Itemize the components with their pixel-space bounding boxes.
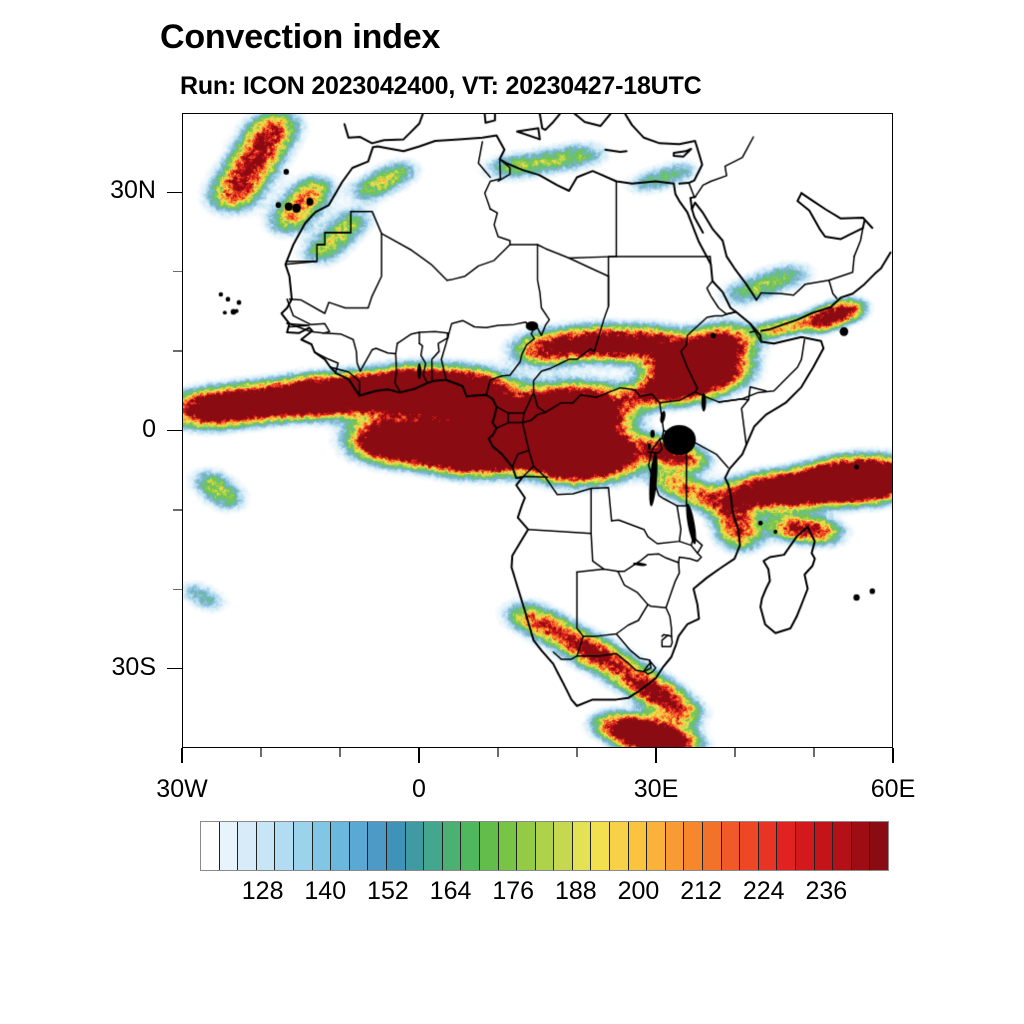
x-axis-label: 30E xyxy=(634,775,678,804)
colorbar-swatch xyxy=(573,822,592,870)
colorbar-tick-label: 140 xyxy=(304,877,346,906)
colorbar-swatch xyxy=(499,822,518,870)
colorbar-labels: 128140152164176188200212224236 xyxy=(0,877,1024,913)
y-axis-label: 30S xyxy=(0,653,156,682)
colorbar-tick-label: 224 xyxy=(743,877,785,906)
x-tick-major xyxy=(892,748,894,763)
colorbar-swatch xyxy=(350,822,369,870)
colorbar-swatch xyxy=(833,822,852,870)
colorbar-tick-label: 200 xyxy=(618,877,660,906)
colorbar-swatch xyxy=(703,822,722,870)
x-tick-minor xyxy=(339,748,340,757)
colorbar-swatch xyxy=(536,822,555,870)
colorbar-swatch xyxy=(870,822,888,870)
colorbar-tick-label: 236 xyxy=(806,877,848,906)
map-plot-area[interactable] xyxy=(182,113,893,748)
colorbar-swatch xyxy=(480,822,499,870)
colorbar-tick-label: 164 xyxy=(430,877,472,906)
convection-index-heatmap xyxy=(183,114,892,747)
colorbar-swatch xyxy=(554,822,573,870)
colorbar-swatch xyxy=(629,822,648,870)
colorbar-swatch xyxy=(406,822,425,870)
y-tick-major xyxy=(167,430,182,432)
y-tick-minor xyxy=(173,271,182,272)
x-tick-minor xyxy=(576,748,577,757)
colorbar-swatch xyxy=(257,822,276,870)
colorbar-swatch xyxy=(313,822,332,870)
colorbar-swatch xyxy=(796,822,815,870)
colorbar-tick-label: 188 xyxy=(555,877,597,906)
x-axis-label: 0 xyxy=(412,775,426,804)
x-tick-minor xyxy=(734,748,735,757)
x-tick-minor xyxy=(260,748,261,757)
x-tick-major xyxy=(418,748,420,763)
y-tick-minor xyxy=(173,589,182,590)
colorbar-swatch xyxy=(331,822,350,870)
x-axis-label: 60E xyxy=(871,775,915,804)
x-tick-minor xyxy=(813,748,814,757)
y-tick-major xyxy=(167,668,182,670)
colorbar-swatch xyxy=(759,822,778,870)
colorbar-swatch xyxy=(740,822,759,870)
colorbar-swatch xyxy=(722,822,741,870)
page-subtitle: Run: ICON 2023042400, VT: 20230427-18UTC xyxy=(180,72,701,101)
colorbar-tick-label: 176 xyxy=(492,877,534,906)
colorbar-swatch xyxy=(201,822,220,870)
colorbar-swatch xyxy=(368,822,387,870)
x-axis-label: 30W xyxy=(156,775,207,804)
x-tick-minor xyxy=(497,748,498,757)
colorbar-swatch xyxy=(666,822,685,870)
colorbar-swatch xyxy=(294,822,313,870)
y-tick-minor xyxy=(173,509,182,510)
colorbar-tick-label: 212 xyxy=(680,877,722,906)
colorbar-swatch xyxy=(443,822,462,870)
colorbar-swatch xyxy=(777,822,796,870)
colorbar-swatch xyxy=(647,822,666,870)
colorbar-tick-label: 152 xyxy=(367,877,409,906)
colorbar-swatch xyxy=(684,822,703,870)
colorbar-swatch xyxy=(238,822,257,870)
colorbar-swatch xyxy=(610,822,629,870)
page-title: Convection index xyxy=(160,18,440,57)
colorbar-swatch xyxy=(424,822,443,870)
colorbar[interactable] xyxy=(200,821,889,871)
colorbar-swatch xyxy=(591,822,610,870)
y-tick-major xyxy=(167,192,182,194)
y-axis-label: 30N xyxy=(0,176,156,205)
colorbar-swatch xyxy=(852,822,871,870)
colorbar-swatch xyxy=(387,822,406,870)
x-tick-major xyxy=(655,748,657,763)
colorbar-swatch xyxy=(815,822,834,870)
colorbar-swatch xyxy=(461,822,480,870)
colorbar-tick-label: 128 xyxy=(242,877,284,906)
colorbar-swatch xyxy=(275,822,294,870)
colorbar-swatch xyxy=(517,822,536,870)
colorbar-swatch xyxy=(220,822,239,870)
y-tick-minor xyxy=(173,350,182,351)
x-tick-major xyxy=(181,748,183,763)
y-axis-label: 0 xyxy=(0,415,156,444)
